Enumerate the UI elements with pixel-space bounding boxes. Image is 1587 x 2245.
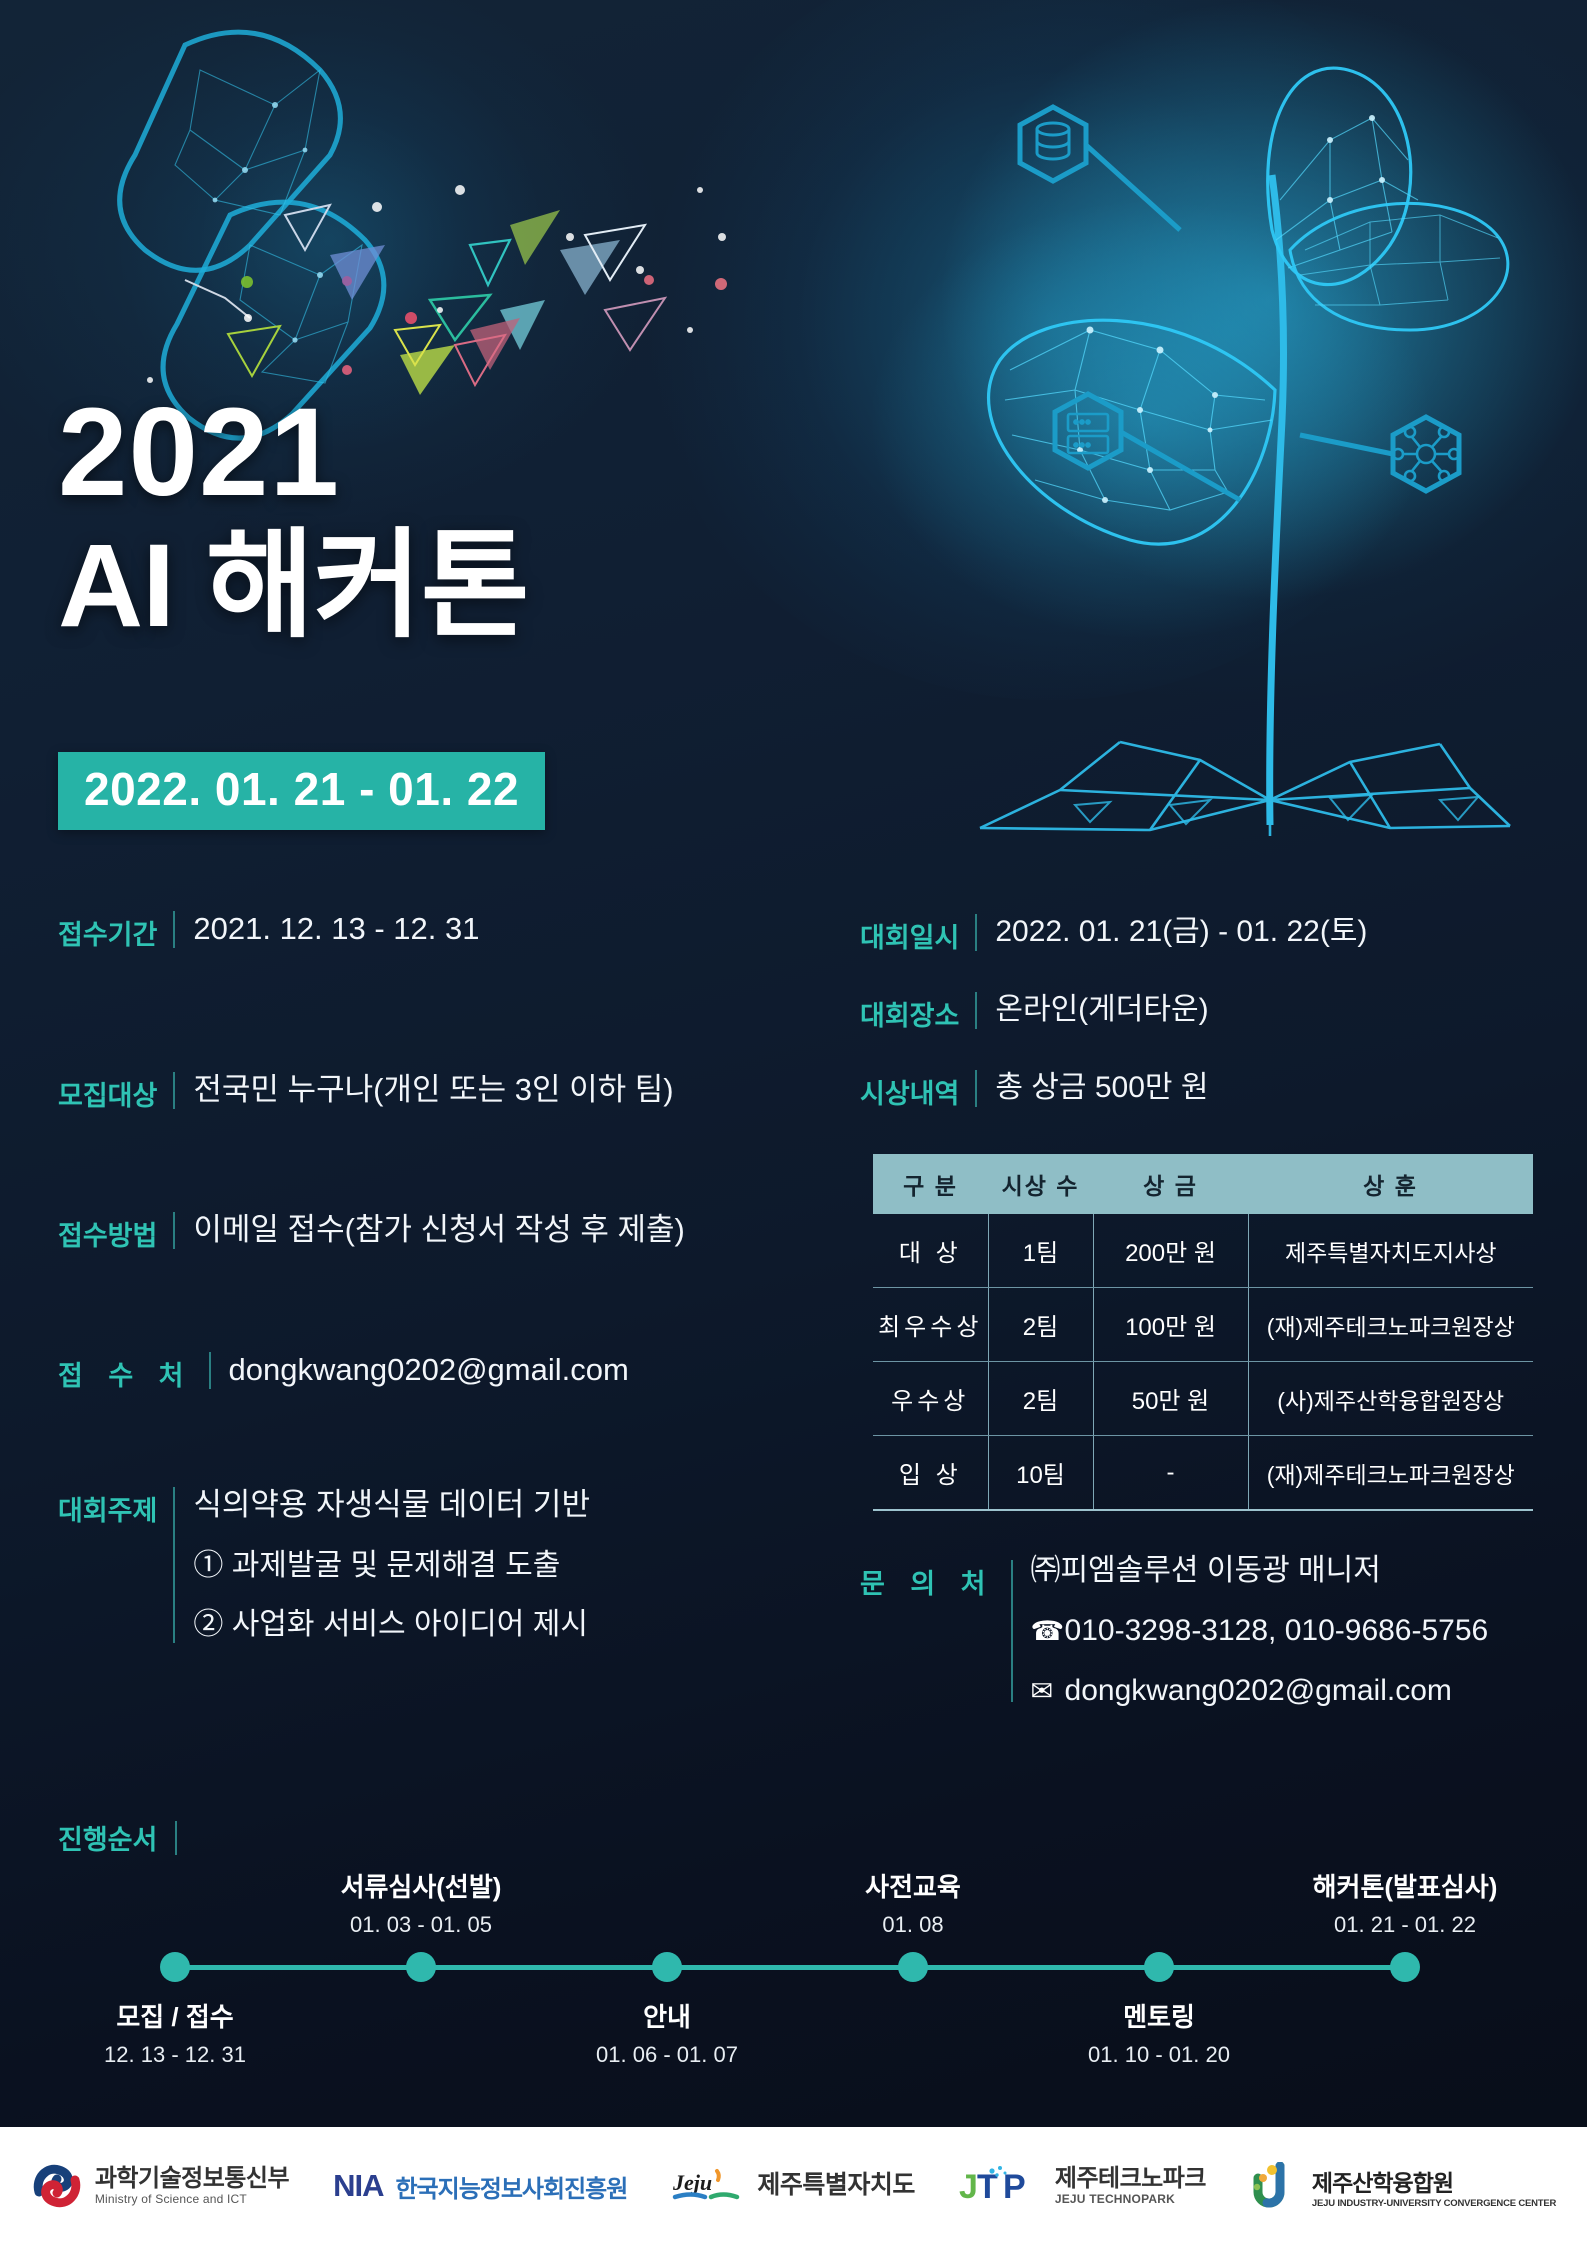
hexagon-database-icon [1020, 107, 1086, 181]
table-row: 최우수상 2팀 100만 원 (재)제주테크노파크원장상 [873, 1288, 1533, 1362]
info-value: 2021. 12. 13 - 12. 31 [193, 907, 479, 952]
info-row-contest-topic: 대회주제 식의약용 자생식물 데이터 기반 ① 과제발굴 및 문제해결 도출 ②… [58, 1483, 590, 1647]
logo-text-en: Ministry of Science and ICT [95, 2192, 289, 2206]
contact-details: ㈜피엠솔루션 이동광 매니저 ☎ 010-3298-3128, 010-9686… [1031, 1556, 1489, 1706]
timeline-title: 안내 [507, 2002, 827, 2033]
topic-main: 식의약용 자생식물 데이터 기반 [193, 1487, 590, 1522]
info-row-prize-summary: 시상내역 총 상금 500만 원 [860, 1066, 1208, 1111]
info-value: 전국민 누구나(개인 또는 3인 이하 팀) [193, 1068, 673, 1113]
info-row-event-datetime: 대회일시 2022. 01. 21(금) - 01. 22(토) [860, 910, 1367, 955]
timeline-date: 01. 03 - 01. 05 [261, 1912, 581, 1938]
info-row-application-method: 접수방법 이메일 접수(참가 신청서 작성 후 제출) [58, 1208, 685, 1253]
phone-icon: ☎ [1031, 1618, 1065, 1645]
jtp-icon: J T P [959, 2164, 1043, 2208]
timeline-title: 멘토링 [999, 2002, 1319, 2033]
timeline-title: 서류심사(선발) [261, 1872, 581, 1903]
logo-abbr: NIA [333, 2168, 383, 2204]
svg-text:T: T [977, 2168, 998, 2206]
timeline-title: 모집 / 접수 [15, 2002, 335, 2033]
info-label: 접 수 처 [58, 1348, 193, 1393]
logo-text-kr: 한국지능정보사회진흥원 [395, 2169, 627, 2204]
timeline-caption-2: 안내 01. 06 - 01. 07 [507, 2002, 827, 2068]
footer-logo-bar: 과학기술정보통신부 Ministry of Science and ICT NI… [0, 2127, 1587, 2245]
headline-block: 2021 AI 해커톤 [58, 390, 528, 659]
divider [175, 1821, 177, 1855]
contact-email[interactable]: dongkwang0202@gmail.com [1065, 1676, 1452, 1706]
jiucc-icon [1250, 2162, 1300, 2210]
timeline-date: 01. 06 - 01. 07 [507, 2042, 827, 2068]
timeline-date: 01. 10 - 01. 20 [999, 2042, 1319, 2068]
table-header-row: 구 분 시상 수 상 금 상 훈 [873, 1154, 1533, 1214]
timeline-header: 진행순서 [58, 1818, 177, 1857]
divider [173, 1487, 175, 1643]
divider [975, 992, 977, 1029]
contact-phone-row: ☎ 010-3298-3128, 010-9686-5756 [1031, 1616, 1489, 1646]
logo-ministry-of-science-and-ict: 과학기술정보통신부 Ministry of Science and ICT [31, 2160, 289, 2212]
info-value[interactable]: dongkwang0202@gmail.com [229, 1348, 629, 1393]
logo-text-kr: 제주특별자치도 [757, 2172, 915, 2200]
contact-phone[interactable]: 010-3298-3128, 010-9686-5756 [1065, 1616, 1489, 1646]
contact-organization: ㈜피엠솔루션 이동광 매니저 [1031, 1556, 1381, 1586]
timeline-caption-0: 모집 / 접수 12. 13 - 12. 31 [15, 2002, 335, 2068]
logo-text-kr: 제주테크노파크 [1055, 2166, 1206, 2192]
divider [173, 911, 175, 948]
topic-item-2: ② 사업화 서비스 아이디어 제시 [193, 1603, 590, 1647]
cell-award: 제주특별자치도지사상 [1248, 1214, 1533, 1288]
logo-text-kr: 과학기술정보통신부 [95, 2166, 289, 2192]
timeline-node[interactable] [160, 1952, 190, 1982]
divider [209, 1352, 211, 1389]
cell-award: (재)제주테크노파크원장상 [1248, 1436, 1533, 1511]
divider [975, 1070, 977, 1107]
cell-count: 2팀 [988, 1288, 1093, 1362]
svg-text:J: J [959, 2168, 978, 2206]
envelope-icon: ✉ [1031, 1678, 1065, 1705]
timeline-node[interactable] [898, 1952, 928, 1982]
info-label: 접수방법 [58, 1208, 157, 1253]
logo-text-kr: 제주산학융합원 [1312, 2164, 1556, 2198]
cell-award: (재)제주테크노파크원장상 [1248, 1288, 1533, 1362]
info-label: 대회일시 [860, 910, 959, 955]
info-value: 2022. 01. 21(금) - 01. 22(토) [995, 910, 1367, 954]
timeline-track [175, 1965, 1405, 1970]
prize-table: 구 분 시상 수 상 금 상 훈 대 상 1팀 200만 원 제주특별자치도지사… [873, 1154, 1533, 1511]
svg-text:P: P [1003, 2168, 1026, 2206]
info-label: 모집대상 [58, 1068, 157, 1113]
timeline-node[interactable] [406, 1952, 436, 1982]
logo-jeju-technopark: J T P 제주테크노파크 JEJU TECHNOPARK [959, 2164, 1206, 2208]
hexagon-network-icon [1393, 417, 1459, 491]
info-row-submission-email: 접 수 처 dongkwang0202@gmail.com [58, 1348, 629, 1393]
timeline-caption-3: 사전교육 01. 08 [753, 1872, 1073, 1938]
logo-nia: NIA 한국지능정보사회진흥원 [333, 2168, 627, 2204]
timeline-node[interactable] [652, 1952, 682, 1982]
column-header-amount: 상 금 [1093, 1154, 1248, 1214]
timeline-label: 진행순서 [58, 1818, 157, 1857]
timeline-title: 사전교육 [753, 1872, 1073, 1903]
timeline-caption-4: 멘토링 01. 10 - 01. 20 [999, 2002, 1319, 2068]
table-row: 우수상 2팀 50만 원 (사)제주산학융합원장상 [873, 1362, 1533, 1436]
info-row-application-period: 접수기간 2021. 12. 13 - 12. 31 [58, 907, 480, 952]
cell-count: 2팀 [988, 1362, 1093, 1436]
column-header-category: 구 분 [873, 1154, 988, 1214]
headline-title: AI 해커톤 [58, 515, 528, 659]
timeline-date: 01. 21 - 01. 22 [1245, 1912, 1565, 1938]
timeline-node[interactable] [1390, 1952, 1420, 1982]
info-value: 온라인(게더타운) [995, 988, 1208, 1032]
info-label: 접수기간 [58, 907, 157, 952]
table-row: 입 상 10팀 - (재)제주테크노파크원장상 [873, 1436, 1533, 1511]
divider [1011, 1560, 1013, 1702]
info-row-eligibility: 모집대상 전국민 누구나(개인 또는 3인 이하 팀) [58, 1068, 674, 1113]
cell-category: 대 상 [873, 1214, 988, 1288]
logo-jeju-industry-university-convergence-center: 제주산학융합원 JEJU INDUSTRY-UNIVERSITY CONVERG… [1250, 2162, 1556, 2210]
info-row-event-venue: 대회장소 온라인(게더타운) [860, 988, 1209, 1033]
info-value-group: 식의약용 자생식물 데이터 기반 ① 과제발굴 및 문제해결 도출 ② 사업화 … [193, 1483, 590, 1647]
timeline: 모집 / 접수 12. 13 - 12. 31 서류심사(선발) 01. 03 … [0, 1880, 1587, 2120]
divider [975, 914, 977, 951]
info-value: 총 상금 500만 원 [995, 1066, 1208, 1110]
timeline-node[interactable] [1144, 1952, 1174, 1982]
column-header-award: 상 훈 [1248, 1154, 1533, 1214]
headline-year: 2021 [58, 390, 528, 515]
hexagon-server-icon [1055, 394, 1121, 468]
svg-text:Jeju: Jeju [672, 2170, 712, 2195]
column-header-count: 시상 수 [988, 1154, 1093, 1214]
cell-amount: 50만 원 [1093, 1362, 1248, 1436]
cell-count: 1팀 [988, 1214, 1093, 1288]
poster-canvas: 2021 AI 해커톤 2022. 01. 21 - 01. 22 접수기간 2… [0, 0, 1587, 2245]
timeline-date: 01. 08 [753, 1912, 1073, 1938]
divider [173, 1212, 175, 1249]
cell-amount: - [1093, 1436, 1248, 1511]
contact-block: 문 의 처 ㈜피엠솔루션 이동광 매니저 ☎ 010-3298-3128, 01… [860, 1556, 1488, 1706]
cell-category: 입 상 [873, 1436, 988, 1511]
info-label: 시상내역 [860, 1066, 959, 1111]
jeju-mark-icon: Jeju [671, 2166, 745, 2206]
timeline-caption-5: 해커톤(발표심사) 01. 21 - 01. 22 [1245, 1872, 1565, 1938]
timeline-title: 해커톤(발표심사) [1245, 1872, 1565, 1903]
cell-category: 우수상 [873, 1362, 988, 1436]
particle-cluster [147, 185, 727, 395]
divider [173, 1072, 175, 1109]
taegeuk-icon [31, 2160, 83, 2212]
table-row: 대 상 1팀 200만 원 제주특별자치도지사상 [873, 1214, 1533, 1288]
contact-organization-row: ㈜피엠솔루션 이동광 매니저 [1031, 1556, 1489, 1586]
cell-count: 10팀 [988, 1436, 1093, 1511]
logo-jeju-province: Jeju 제주특별자치도 [671, 2166, 915, 2206]
capsule-graphic [120, 32, 384, 438]
logo-text-en: JEJU TECHNOPARK [1055, 2192, 1206, 2206]
plant-graphic [870, 0, 1587, 836]
timeline-date: 12. 13 - 12. 31 [15, 2042, 335, 2068]
info-label: 대회주제 [58, 1483, 157, 1528]
info-value: 이메일 접수(참가 신청서 작성 후 제출) [193, 1208, 685, 1253]
logo-text-en: JEJU INDUSTRY-UNIVERSITY CONVERGENCE CEN… [1312, 2198, 1556, 2209]
cell-award: (사)제주산학융합원장상 [1248, 1362, 1533, 1436]
info-label: 대회장소 [860, 988, 959, 1033]
contact-label: 문 의 처 [860, 1556, 995, 1601]
cell-amount: 100만 원 [1093, 1288, 1248, 1362]
timeline-caption-1: 서류심사(선발) 01. 03 - 01. 05 [261, 1872, 581, 1938]
cell-amount: 200만 원 [1093, 1214, 1248, 1288]
cell-category: 최우수상 [873, 1288, 988, 1362]
topic-item-1: ① 과제발굴 및 문제해결 도출 [193, 1544, 590, 1588]
contact-email-row: ✉ dongkwang0202@gmail.com [1031, 1676, 1489, 1706]
event-date-badge: 2022. 01. 21 - 01. 22 [58, 752, 545, 830]
